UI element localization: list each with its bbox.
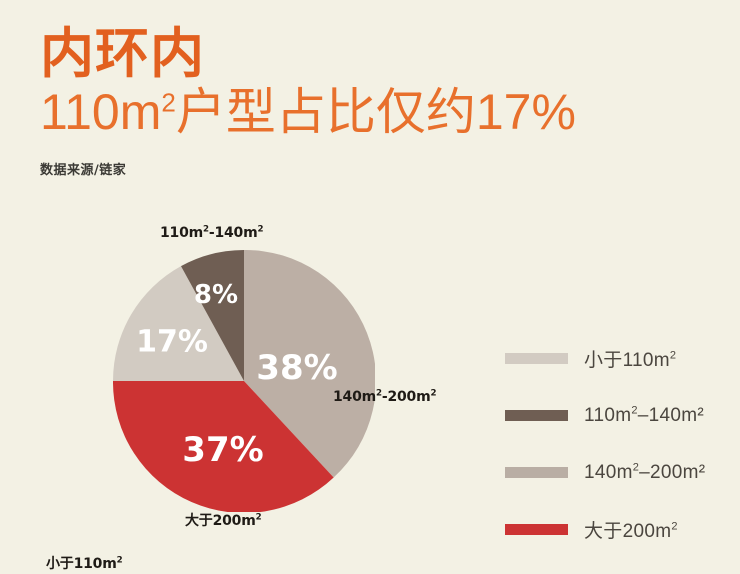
legend-label-prefix: 110m <box>584 405 631 426</box>
legend-item-140-200[interactable]: 140m2–200m² <box>505 444 730 501</box>
chart-legend: 小于110m2 110m2–140m² 140m2–200m² 大于200m2 <box>505 330 730 558</box>
legend-item-over-200[interactable]: 大于200m2 <box>505 501 730 558</box>
legend-swatch-icon <box>505 467 568 478</box>
callout-right-mid: -200m <box>382 389 431 405</box>
page-title: 内环内 <box>40 26 720 83</box>
legend-item-label: 大于200m2 <box>584 516 678 543</box>
callout-left-prefix: 小于110m <box>46 556 117 572</box>
pie-chart: 38% 37% 17% 8% <box>113 250 375 512</box>
callout-bottom-prefix: 大于200m <box>185 513 256 529</box>
subtitle-rest: 户型占比仅约17% <box>176 84 576 140</box>
pie-value-110-140: 8% <box>194 280 238 310</box>
data-source-label: 数据来源/链家 <box>40 159 720 178</box>
legend-label-rest: –200m² <box>639 462 705 483</box>
legend-label-sup: 2 <box>670 350 676 362</box>
legend-label-rest: –140m² <box>638 405 704 426</box>
legend-swatch-icon <box>505 353 568 364</box>
legend-item-label: 小于110m2 <box>584 345 676 372</box>
callout-top-prefix: 110m <box>160 225 203 241</box>
legend-item-110-140[interactable]: 110m2–140m² <box>505 387 730 444</box>
subtitle-prefix: 110m <box>40 84 161 140</box>
pie-value-over-200: 37% <box>182 430 263 470</box>
pie-value-140-200: 38% <box>256 348 337 388</box>
callout-left-sup1: 2 <box>117 555 123 565</box>
callout-right-sup2: 2 <box>430 388 436 398</box>
legend-label-prefix: 140m <box>584 462 633 483</box>
callout-under-110: 小于110m2 <box>46 553 122 573</box>
infographic-root: 内环内 110m2户型占比仅约17% 数据来源/链家 38% 37% 17% 8… <box>0 0 740 574</box>
page-subtitle: 110m2户型占比仅约17% <box>40 85 720 139</box>
pie-chart-area: 38% 37% 17% 8% 110m2-140m2 小于110m2 140m2… <box>0 215 500 560</box>
legend-item-under-110[interactable]: 小于110m2 <box>505 330 730 387</box>
callout-bottom-sup1: 2 <box>256 512 262 522</box>
pie-svg: 38% 37% 17% 8% <box>113 250 375 512</box>
legend-item-label: 110m2–140m² <box>584 405 704 427</box>
legend-label-prefix: 大于200m <box>584 521 671 542</box>
legend-swatch-icon <box>505 410 568 421</box>
legend-swatch-icon <box>505 524 568 535</box>
callout-110-140: 110m2-140m2 <box>160 225 263 241</box>
callout-right-prefix: 140m <box>333 389 376 405</box>
legend-item-label: 140m2–200m² <box>584 462 705 484</box>
callout-over-200: 大于200m2 <box>185 510 261 530</box>
pie-value-under-110: 17% <box>136 325 208 360</box>
callout-top-mid: -140m <box>209 225 258 241</box>
callout-top-sup2: 2 <box>257 224 263 234</box>
subtitle-superscript: 2 <box>161 87 175 117</box>
callout-140-200: 140m2-200m2 <box>333 389 436 405</box>
legend-label-sup: 2 <box>671 521 677 533</box>
legend-label-prefix: 小于110m <box>584 350 670 371</box>
header: 内环内 110m2户型占比仅约17% 数据来源/链家 <box>40 26 720 178</box>
